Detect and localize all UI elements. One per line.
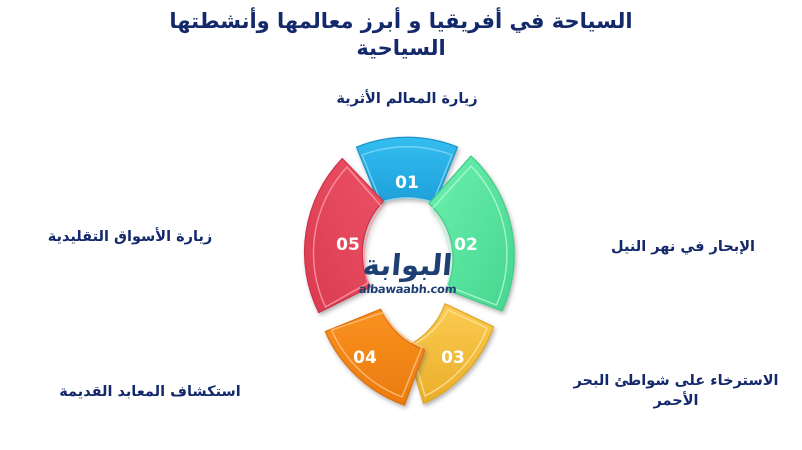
donut-segment-03-number: 03 xyxy=(441,348,465,368)
page-title-line-2: السياحية xyxy=(110,35,692,62)
donut-segment-04[interactable]: 04 xyxy=(325,309,424,405)
infographic-canvas: السياحة في أفريقيا و أبرز معالمها وأنشطت… xyxy=(0,0,802,450)
page-title: السياحة في أفريقيا و أبرز معالمها وأنشطت… xyxy=(110,8,692,62)
segment-label-02: الإبحار في نهر النيل xyxy=(570,238,796,258)
page-title-line-1: السياحة في أفريقيا و أبرز معالمها وأنشطت… xyxy=(110,8,692,35)
logo-wordmark: البوابة xyxy=(362,251,454,280)
logo-domain: albawaabh.com xyxy=(359,282,458,296)
segment-label-02-line-1: الإبحار في نهر النيل xyxy=(570,238,796,258)
segment-label-03-line-2: الأحمر xyxy=(556,392,796,412)
segment-label-05: زيارة الأسواق التقليدية xyxy=(12,228,248,248)
segment-label-04-line-1: استكشاف المعابد القديمة xyxy=(12,383,288,403)
segment-label-03: الاسترخاء على شواطئ البحر الأحمر xyxy=(556,372,796,411)
donut-segment-04-number: 04 xyxy=(353,348,377,368)
segment-label-05-line-1: زيارة الأسواق التقليدية xyxy=(12,228,248,248)
segment-label-01-line-1: زيارة المعالم الأثرية xyxy=(252,90,562,110)
donut-segment-01-number: 01 xyxy=(395,173,419,193)
segment-label-04: استكشاف المعابد القديمة xyxy=(12,383,288,403)
segment-label-03-line-1: الاسترخاء على شواطئ البحر xyxy=(556,372,796,392)
center-logo: البوابة albawaabh.com xyxy=(337,236,479,310)
segment-label-01: زيارة المعالم الأثرية xyxy=(252,90,562,110)
